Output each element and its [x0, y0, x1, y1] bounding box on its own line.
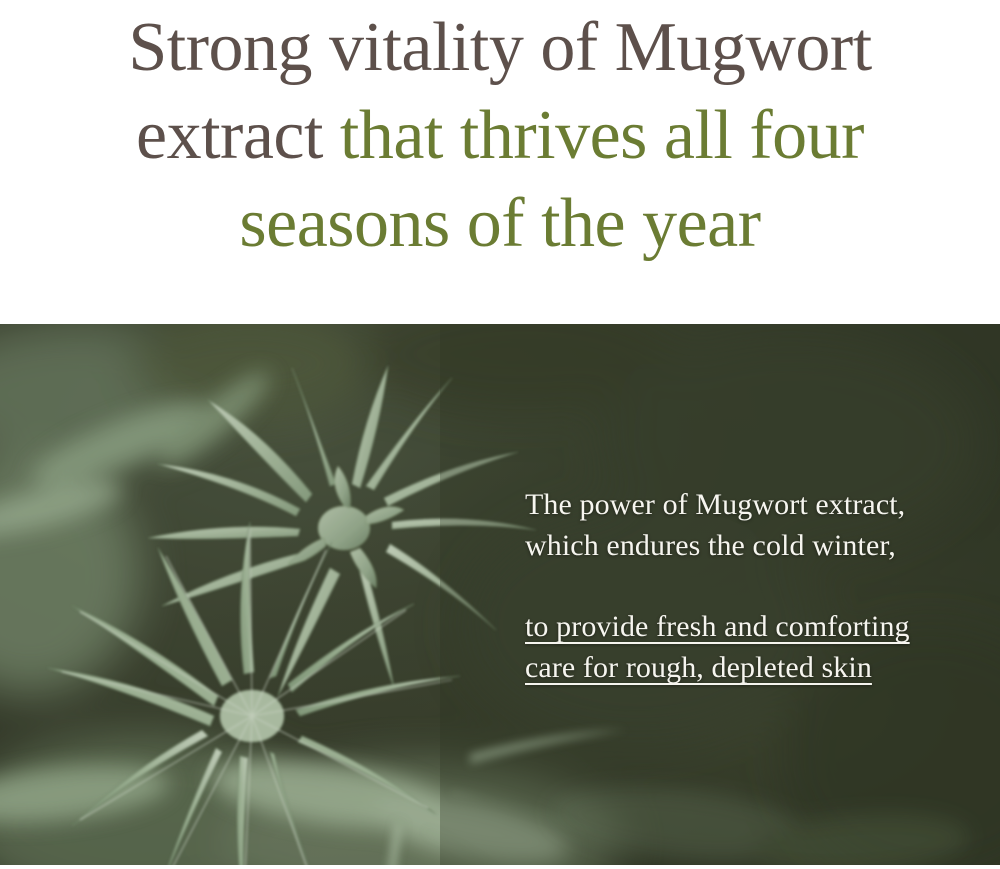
- overlay-text-block: The power of Mugwort extract, which endu…: [525, 484, 955, 688]
- overlay-paragraph2-line1: to provide fresh and comforting: [525, 606, 955, 647]
- mugwort-photo: The power of Mugwort extract, which endu…: [0, 324, 1000, 865]
- mugwort-promo-banner: Strong vitality of Mugwort extract that …: [0, 0, 1000, 869]
- headline-line-3: seasons of the year: [239, 180, 760, 268]
- headline-line-1: Strong vitality of Mugwort: [128, 4, 871, 92]
- headline-space: [323, 97, 340, 174]
- header-section: Strong vitality of Mugwort extract that …: [0, 0, 1000, 324]
- headline-line-1-text: Strong vitality of Mugwort: [128, 9, 871, 86]
- bottom-white-strip: [0, 865, 1000, 869]
- headline-line-2-brown-text: extract: [136, 97, 323, 174]
- overlay-paragraph-spacer: [525, 566, 955, 606]
- headline-line-2-green-text: that thrives all four: [340, 97, 864, 174]
- overlay-paragraph1-line1: The power of Mugwort extract,: [525, 484, 955, 525]
- overlay-paragraph2-line2: care for rough, depleted skin: [525, 647, 955, 688]
- headline-line-3-text: seasons of the year: [239, 185, 760, 262]
- overlay-paragraph1-line2: which endures the cold winter,: [525, 525, 955, 566]
- headline-line-2: extract that thrives all four: [136, 92, 864, 180]
